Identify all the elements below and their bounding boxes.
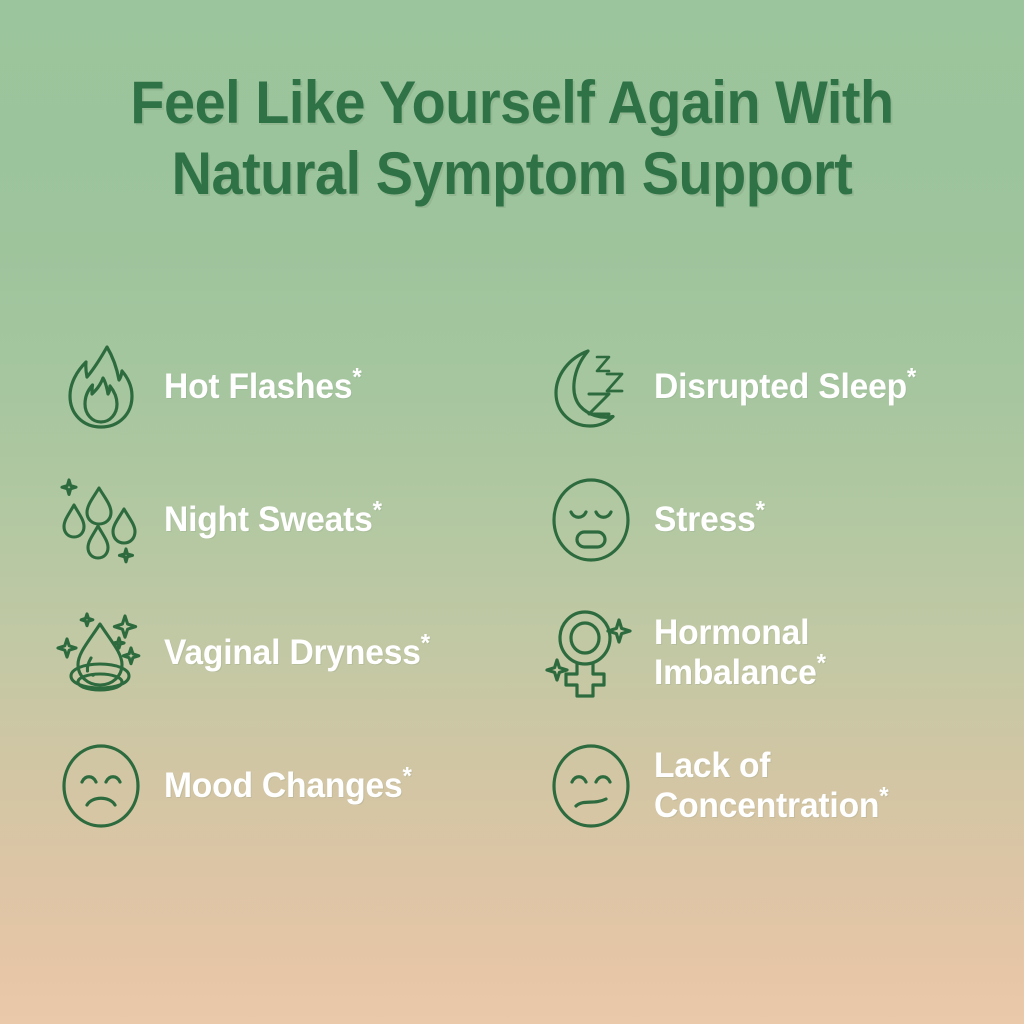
symptom-item-lack-of-concentration: Lack of Concentration* bbox=[548, 719, 978, 852]
sweat-droplets-icon bbox=[58, 477, 144, 563]
symptom-item-hot-flashes: Hot Flashes* bbox=[58, 320, 548, 453]
venus-sparkle-icon bbox=[548, 610, 634, 696]
confused-face-icon bbox=[548, 743, 634, 829]
symptom-label: Stress* bbox=[654, 500, 765, 539]
symptom-list: Hot Flashes* Night Sweats* bbox=[58, 320, 978, 852]
symptom-item-night-sweats: Night Sweats* bbox=[58, 453, 548, 586]
symptom-label: Mood Changes* bbox=[164, 766, 412, 805]
headline-line-1: Feel Like Yourself Again With bbox=[36, 68, 988, 139]
symptom-label: Hormonal Imbalance* bbox=[654, 613, 826, 691]
headline-line-2: Natural Symptom Support bbox=[36, 139, 988, 210]
symptom-item-vaginal-dryness: Vaginal Dryness* bbox=[58, 586, 548, 719]
symptom-label: Night Sweats* bbox=[164, 500, 382, 539]
droplet-ripple-icon bbox=[58, 610, 144, 696]
symptom-item-hormonal-imbalance: Hormonal Imbalance* bbox=[548, 586, 978, 719]
symptom-label: Disrupted Sleep* bbox=[654, 367, 916, 406]
symptom-item-disrupted-sleep: Disrupted Sleep* bbox=[548, 320, 978, 453]
symptom-support-poster: Feel Like Yourself Again With Natural Sy… bbox=[0, 0, 1024, 1024]
moon-zzz-icon bbox=[548, 344, 634, 430]
symptom-label: Vaginal Dryness* bbox=[164, 633, 430, 672]
flame-icon bbox=[58, 344, 144, 430]
page-title: Feel Like Yourself Again With Natural Sy… bbox=[36, 68, 988, 210]
sad-face-icon bbox=[58, 743, 144, 829]
symptom-label: Lack of Concentration* bbox=[654, 746, 888, 824]
symptom-item-mood-changes: Mood Changes* bbox=[58, 719, 548, 852]
stressed-face-icon bbox=[548, 477, 634, 563]
symptom-label: Hot Flashes* bbox=[164, 367, 362, 406]
symptom-item-stress: Stress* bbox=[548, 453, 978, 586]
